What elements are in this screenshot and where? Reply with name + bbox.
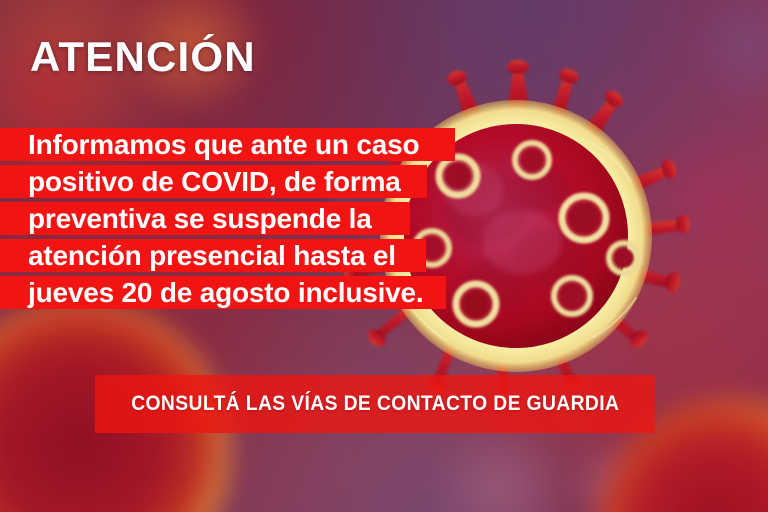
message-line: Informamos que ante un caso	[0, 128, 455, 161]
page-title: ATENCIÓN	[30, 36, 256, 78]
covid-notice-poster: ATENCIÓN Informamos que ante un caso pos…	[0, 0, 768, 512]
message-line-text: positivo de COVID, de forma	[0, 168, 401, 196]
message-line-text: preventiva se suspende la	[0, 205, 372, 233]
notice-message: Informamos que ante un caso positivo de …	[0, 128, 520, 313]
message-line-text: atención presencial hasta el	[0, 242, 396, 270]
message-line-text: Informamos que ante un caso	[0, 131, 419, 159]
message-line: positivo de COVID, de forma	[0, 165, 427, 198]
message-line: preventiva se suspende la	[0, 202, 410, 235]
message-line-text: jueves 20 de agosto inclusive.	[0, 279, 424, 307]
contact-banner: CONSULTÁ LAS VÍAS DE CONTACTO DE GUARDIA	[95, 375, 655, 433]
message-line: atención presencial hasta el	[0, 239, 426, 272]
message-line: jueves 20 de agosto inclusive.	[0, 276, 446, 309]
contact-banner-text: CONSULTÁ LAS VÍAS DE CONTACTO DE GUARDIA	[131, 392, 619, 416]
